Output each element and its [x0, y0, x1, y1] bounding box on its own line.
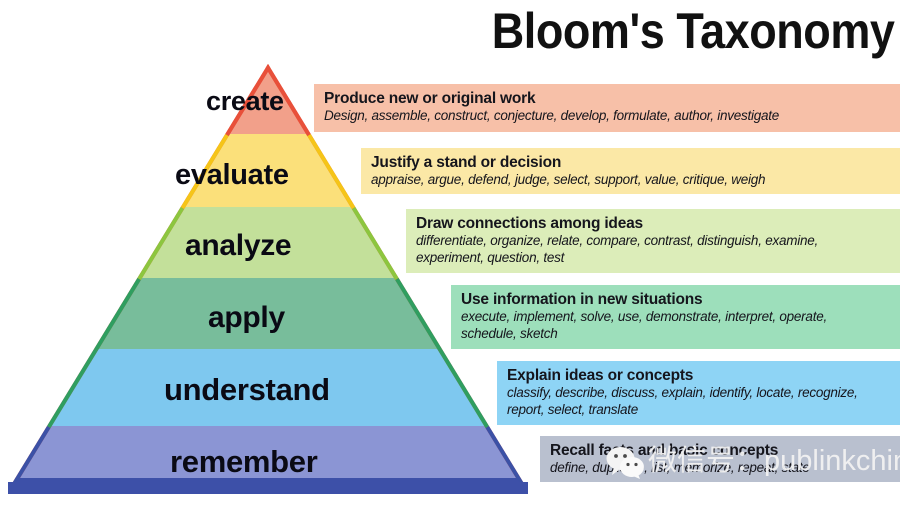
tier-label-create: create: [206, 86, 284, 117]
callout-verbs: classify, describe, discuss, explain, id…: [507, 385, 884, 418]
page-title: Bloom's Taxonomy: [491, 2, 894, 60]
callout-understand: Explain ideas or concepts classify, desc…: [497, 361, 900, 425]
tier-label-understand: understand: [164, 372, 330, 408]
callout-heading: Use information in new situations: [461, 290, 900, 309]
callout-verbs: define, duplicate, list, memorize, repea…: [550, 460, 886, 477]
bloom-taxonomy-infographic: Bloom's Taxonomy: [0, 0, 900, 507]
tier-label-remember: remember: [170, 444, 318, 480]
callout-evaluate: Justify a stand or decision appraise, ar…: [361, 148, 900, 194]
callout-verbs: differentiate, organize, relate, compare…: [416, 233, 881, 266]
tier-label-apply: apply: [208, 301, 285, 335]
callout-heading: Recall facts and basic concepts: [550, 441, 900, 460]
callout-apply: Use information in new situations execut…: [451, 285, 900, 349]
callout-create: Produce new or original work Design, ass…: [314, 84, 900, 132]
callout-remember: Recall facts and basic concepts define, …: [540, 436, 900, 482]
callout-heading: Justify a stand or decision: [371, 153, 900, 172]
callout-verbs: execute, implement, solve, use, demonstr…: [461, 309, 882, 342]
callout-verbs: Design, assemble, construct, conjecture,…: [324, 108, 877, 125]
tier-label-analyze: analyze: [185, 229, 291, 263]
callout-verbs: appraise, argue, defend, judge, select, …: [371, 172, 879, 189]
callout-heading: Produce new or original work: [324, 89, 900, 108]
callout-heading: Explain ideas or concepts: [507, 366, 900, 385]
callout-heading: Draw connections among ideas: [416, 214, 900, 233]
callout-analyze: Draw connections among ideas differentia…: [406, 209, 900, 273]
pyramid-base-bar: [8, 482, 528, 494]
tier-label-evaluate: evaluate: [175, 159, 289, 192]
